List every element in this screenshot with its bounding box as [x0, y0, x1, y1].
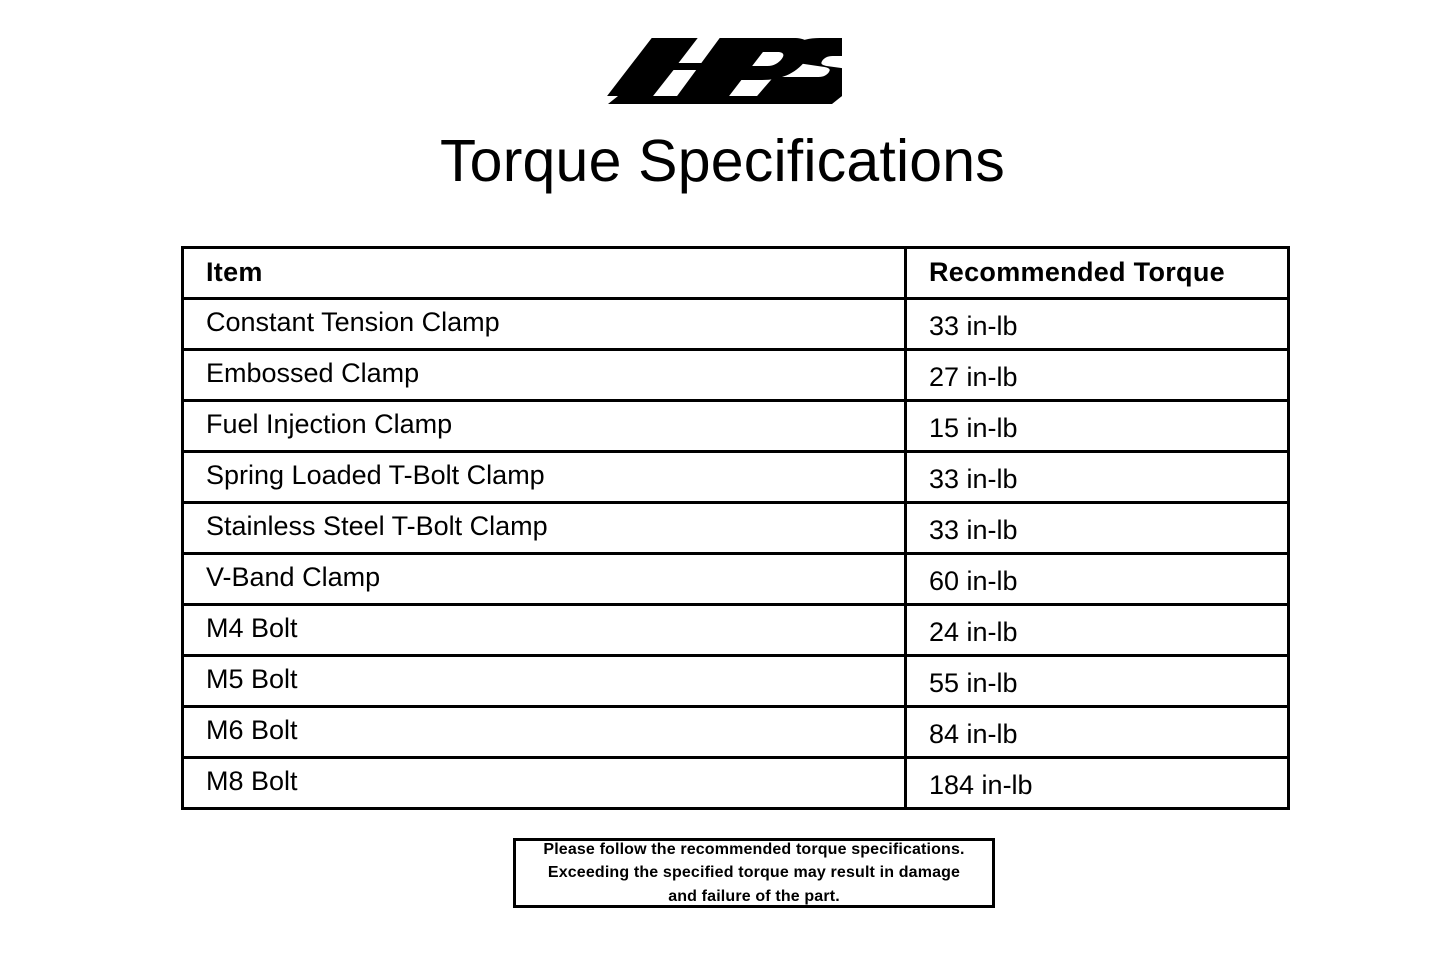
cell-torque: 27 in-lb: [906, 350, 1289, 401]
cell-item: Constant Tension Clamp: [183, 299, 906, 350]
table-row: M8 Bolt 184 in-lb: [183, 758, 1289, 809]
torque-table-container: Item Recommended Torque Constant Tension…: [181, 246, 1287, 810]
cell-torque: 55 in-lb: [906, 656, 1289, 707]
cell-torque-value: 33 in-lb: [907, 312, 1287, 342]
table-row: Stainless Steel T-Bolt Clamp 33 in-lb: [183, 503, 1289, 554]
cell-torque-value: 27 in-lb: [907, 363, 1287, 393]
cell-item: M6 Bolt: [183, 707, 906, 758]
cell-torque: 33 in-lb: [906, 503, 1289, 554]
column-header-item-label: Item: [184, 258, 904, 288]
cell-item: M8 Bolt: [183, 758, 906, 809]
table-header: Item Recommended Torque: [183, 248, 1289, 299]
table-row: M6 Bolt 84 in-lb: [183, 707, 1289, 758]
cell-item-label: V-Band Clamp: [184, 563, 904, 593]
cell-torque-value: 24 in-lb: [907, 618, 1287, 648]
cell-item-label: M8 Bolt: [184, 767, 904, 797]
footnote-box: Please follow the recommended torque spe…: [513, 838, 995, 908]
page-title: Torque Specifications: [0, 128, 1445, 196]
cell-torque: 84 in-lb: [906, 707, 1289, 758]
cell-torque: 184 in-lb: [906, 758, 1289, 809]
table-row: V-Band Clamp 60 in-lb: [183, 554, 1289, 605]
cell-item-label: Spring Loaded T-Bolt Clamp: [184, 461, 904, 491]
cell-torque-value: 15 in-lb: [907, 414, 1287, 444]
table-header-row: Item Recommended Torque: [183, 248, 1289, 299]
cell-item-label: Constant Tension Clamp: [184, 308, 904, 338]
hps-logo: [604, 30, 842, 104]
table-row: M4 Bolt 24 in-lb: [183, 605, 1289, 656]
cell-item: Spring Loaded T-Bolt Clamp: [183, 452, 906, 503]
cell-item: Embossed Clamp: [183, 350, 906, 401]
cell-torque-value: 33 in-lb: [907, 516, 1287, 546]
table-row: Spring Loaded T-Bolt Clamp 33 in-lb: [183, 452, 1289, 503]
cell-item: Fuel Injection Clamp: [183, 401, 906, 452]
footnote-line-3: and failure of the part.: [668, 885, 840, 908]
cell-item: Stainless Steel T-Bolt Clamp: [183, 503, 906, 554]
cell-torque-value: 84 in-lb: [907, 720, 1287, 750]
table-row: M5 Bolt 55 in-lb: [183, 656, 1289, 707]
cell-torque-value: 33 in-lb: [907, 465, 1287, 495]
cell-torque: 33 in-lb: [906, 299, 1289, 350]
table-row: Constant Tension Clamp 33 in-lb: [183, 299, 1289, 350]
table-body: Constant Tension Clamp 33 in-lb Embossed…: [183, 299, 1289, 809]
cell-torque: 15 in-lb: [906, 401, 1289, 452]
logo-container: [0, 30, 1445, 110]
footnote-line-1: Please follow the recommended torque spe…: [543, 838, 964, 861]
table-row: Fuel Injection Clamp 15 in-lb: [183, 401, 1289, 452]
column-header-item: Item: [183, 248, 906, 299]
cell-torque: 33 in-lb: [906, 452, 1289, 503]
cell-item-label: M5 Bolt: [184, 665, 904, 695]
cell-torque-value: 60 in-lb: [907, 567, 1287, 597]
cell-torque: 60 in-lb: [906, 554, 1289, 605]
torque-specifications-table: Item Recommended Torque Constant Tension…: [181, 246, 1290, 810]
cell-item: V-Band Clamp: [183, 554, 906, 605]
cell-item-label: Embossed Clamp: [184, 359, 904, 389]
cell-item-label: Fuel Injection Clamp: [184, 410, 904, 440]
cell-item-label: M4 Bolt: [184, 614, 904, 644]
column-header-torque-label: Recommended Torque: [907, 258, 1287, 288]
cell-torque: 24 in-lb: [906, 605, 1289, 656]
cell-item: M5 Bolt: [183, 656, 906, 707]
cell-torque-value: 184 in-lb: [907, 771, 1287, 801]
table-row: Embossed Clamp 27 in-lb: [183, 350, 1289, 401]
footnote-line-2: Exceeding the specified torque may resul…: [548, 861, 960, 884]
cell-item: M4 Bolt: [183, 605, 906, 656]
cell-item-label: M6 Bolt: [184, 716, 904, 746]
cell-torque-value: 55 in-lb: [907, 669, 1287, 699]
cell-item-label: Stainless Steel T-Bolt Clamp: [184, 512, 904, 542]
column-header-torque: Recommended Torque: [906, 248, 1289, 299]
